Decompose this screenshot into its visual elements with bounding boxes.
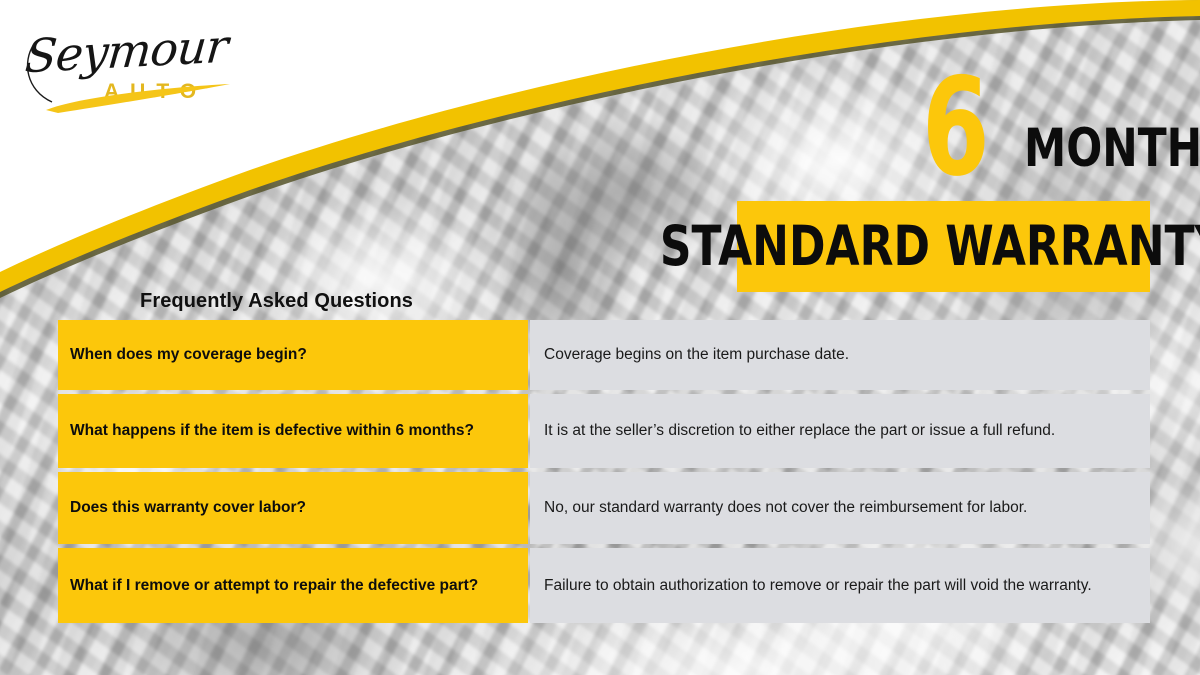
faq-answer-text: Coverage begins on the item purchase dat… [544, 344, 1136, 366]
faq-question-text: Does this warranty cover labor? [70, 498, 306, 518]
warranty-title-bar: STANDARD WARRANTY [737, 201, 1150, 292]
faq-answer-text: Failure to obtain authorization to remov… [544, 575, 1136, 597]
warranty-title: STANDARD WARRANTY [660, 219, 1200, 274]
faq-row: When does my coverage begin? Coverage be… [58, 320, 1150, 390]
faq-question-text: When does my coverage begin? [70, 345, 307, 365]
logo-swoosh-icon [18, 18, 278, 118]
warranty-slide: Seymour AUTO 6 MONTH STANDARD WARRANTY F… [0, 0, 1200, 675]
faq-answer-cell: Failure to obtain authorization to remov… [530, 548, 1150, 623]
faq-answer-cell: No, our standard warranty does not cover… [530, 472, 1150, 544]
faq-question-cell: What if I remove or attempt to repair th… [58, 548, 528, 623]
faq-row: What if I remove or attempt to repair th… [58, 548, 1150, 623]
faq-question-text: What happens if the item is defective wi… [70, 421, 474, 441]
duration-number: 6 [922, 60, 988, 195]
faq-answer-cell: It is at the seller’s discretion to eith… [530, 394, 1150, 468]
faq-question-cell: What happens if the item is defective wi… [58, 394, 528, 468]
faq-answer-cell: Coverage begins on the item purchase dat… [530, 320, 1150, 390]
faq-heading: Frequently Asked Questions [140, 290, 413, 313]
faq-row: What happens if the item is defective wi… [58, 394, 1150, 468]
faq-question-cell: When does my coverage begin? [58, 320, 528, 390]
faq-table: When does my coverage begin? Coverage be… [58, 320, 1150, 623]
faq-row: Does this warranty cover labor? No, our … [58, 472, 1150, 544]
faq-answer-text: It is at the seller’s discretion to eith… [544, 420, 1136, 442]
duration-unit: MONTH [1024, 122, 1200, 175]
faq-question-cell: Does this warranty cover labor? [58, 472, 528, 544]
faq-question-text: What if I remove or attempt to repair th… [70, 576, 478, 596]
brand-logo[interactable]: Seymour AUTO [18, 18, 278, 118]
faq-answer-text: No, our standard warranty does not cover… [544, 497, 1136, 519]
warranty-duration: 6 MONTH [900, 70, 1160, 195]
